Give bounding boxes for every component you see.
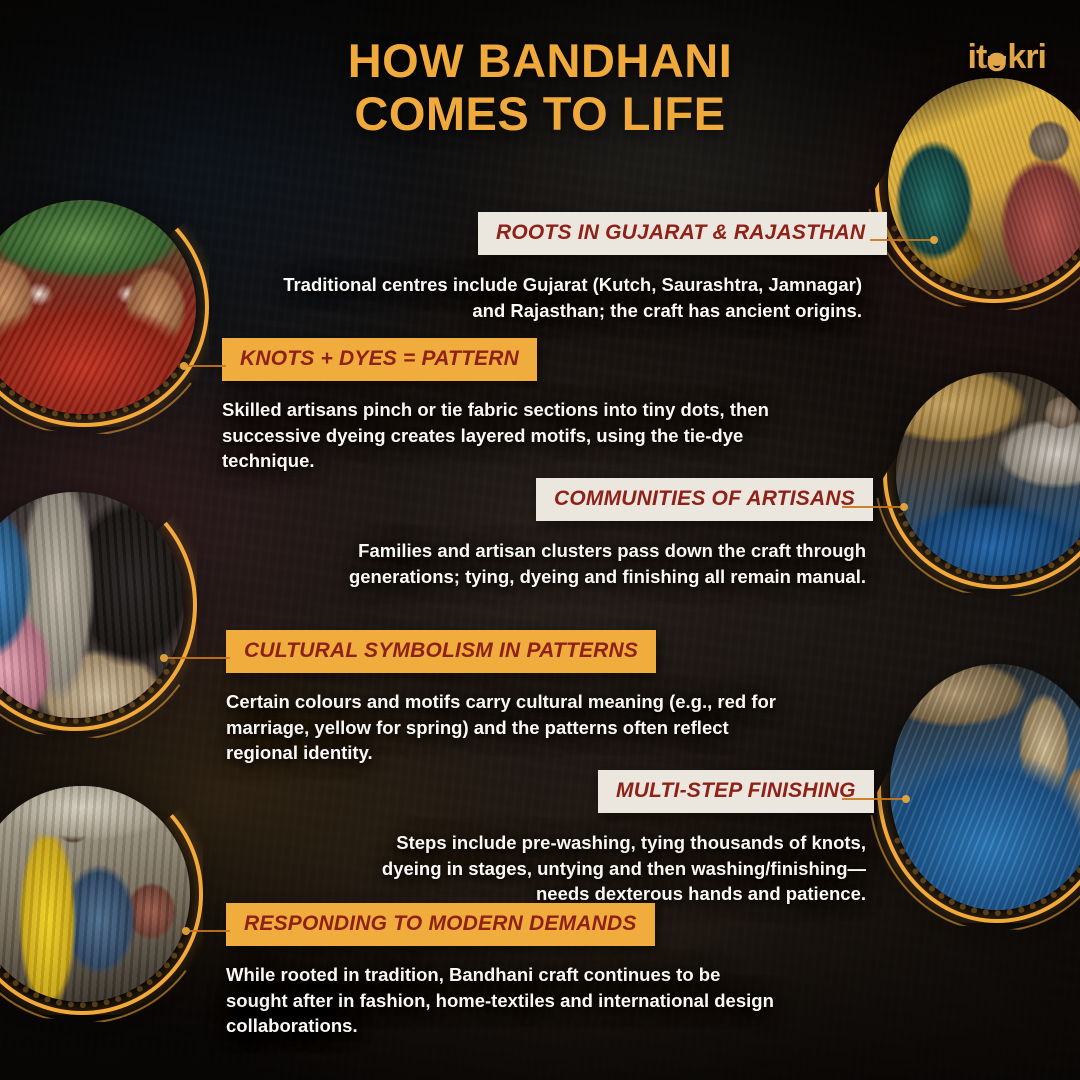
- section-modern-connector: [186, 930, 230, 932]
- section-knots-body: Skilled artisans pinch or tie fabric sec…: [222, 397, 834, 474]
- section-cultural-symbolism: CULTURAL SYMBOLISM IN PATTERNS Certain c…: [226, 630, 866, 766]
- section-roots: ROOTS IN GUJARAT & RAJASTHAN Traditional…: [478, 212, 866, 323]
- photo-dyer-blue-tub: [896, 372, 1080, 576]
- section-modern-demands: RESPONDING TO MODERN DEMANDS While roote…: [226, 903, 866, 1039]
- logo-text-post: kri: [1007, 38, 1046, 77]
- section-modern-badge: RESPONDING TO MODERN DEMANDS: [226, 903, 655, 946]
- section-communities-badge: COMMUNITIES OF ARTISANS: [536, 478, 873, 521]
- page-title-line-1: HOW BANDHANI: [40, 34, 1040, 87]
- section-cultural-body: Certain colours and motifs carry cultura…: [226, 689, 786, 766]
- section-finishing-badge: MULTI-STEP FINISHING: [598, 770, 874, 813]
- photo-yellow-fabric-lift: [0, 786, 190, 1002]
- section-knots-dyes-pattern: KNOTS + DYES = PATTERN Skilled artisans …: [222, 338, 862, 474]
- logo-text-pre: it: [968, 38, 987, 77]
- photo-elderly-woman-tying: [0, 492, 184, 718]
- photo-hands-knotting-red-cloth: [0, 200, 196, 414]
- section-modern-body: While rooted in tradition, Bandhani craf…: [226, 962, 786, 1039]
- section-communities-of-artisans: COMMUNITIES OF ARTISANS Families and art…: [536, 478, 866, 589]
- section-knots-connector: [184, 365, 226, 367]
- photo-indigo-vat-dipping: [890, 664, 1080, 910]
- section-roots-badge: ROOTS IN GUJARAT & RAJASTHAN: [478, 212, 887, 255]
- section-cultural-connector: [164, 657, 230, 659]
- section-roots-connector: [870, 239, 934, 241]
- logo-bowl-icon: o: [986, 41, 1007, 75]
- section-cultural-badge: CULTURAL SYMBOLISM IN PATTERNS: [226, 630, 656, 673]
- section-finishing-connector: [842, 798, 906, 800]
- section-finishing-body: Steps include pre-washing, tying thousan…: [336, 830, 866, 907]
- itokri-logo[interactable]: itokri: [968, 38, 1046, 77]
- section-multi-step-finishing: MULTI-STEP FINISHING Steps include pre-w…: [598, 770, 866, 907]
- section-communities-connector: [842, 506, 904, 508]
- page-title: HOW BANDHANI COMES TO LIFE: [0, 34, 1080, 140]
- section-roots-body: Traditional centres include Gujarat (Kut…: [282, 272, 862, 323]
- page-title-line-2: COMES TO LIFE: [40, 87, 1040, 140]
- section-communities-body: Families and artisan clusters pass down …: [254, 538, 866, 589]
- section-knots-badge: KNOTS + DYES = PATTERN: [222, 338, 537, 381]
